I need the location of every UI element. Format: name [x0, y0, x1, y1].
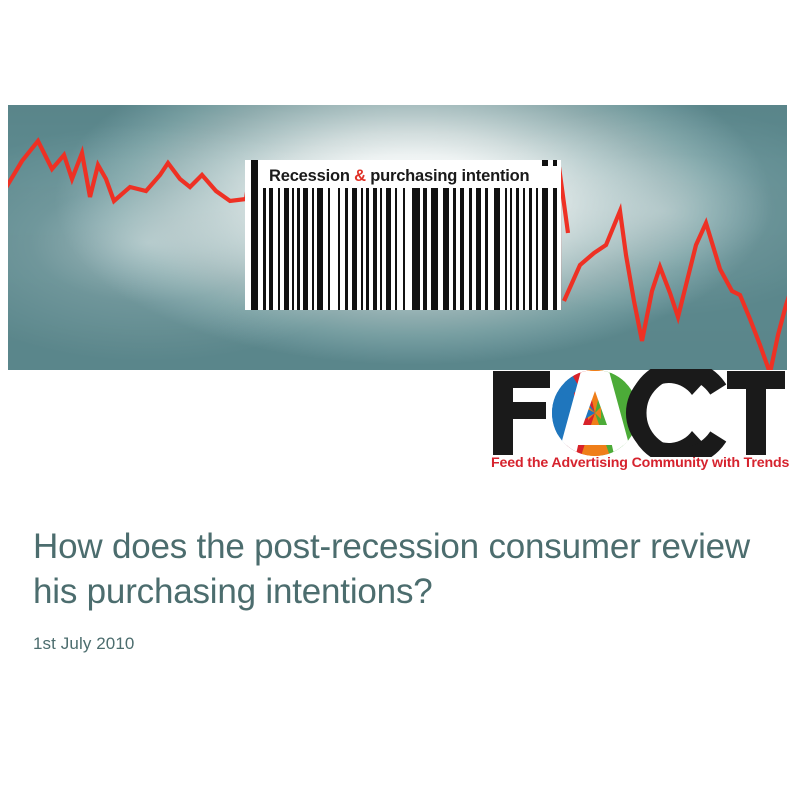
fact-logo: Feed the Advertising Community with Tren… — [489, 369, 787, 481]
fact-logo-letter-f — [493, 371, 550, 455]
trend-line-left — [8, 141, 252, 201]
fact-logo-letter-t — [727, 371, 785, 455]
trend-line-right — [564, 211, 787, 370]
title-block: How does the post-recession consumer rev… — [33, 524, 763, 654]
barcode-title-prefix: Recession — [269, 167, 354, 185]
banner-image: Recession & purchasing intention — [8, 105, 787, 370]
barcode-title-suffix: purchasing intention — [366, 167, 530, 185]
page-title: How does the post-recession consumer rev… — [33, 524, 763, 614]
barcode-title: Recession & purchasing intention — [267, 166, 561, 188]
fact-logo-tagline: Feed the Advertising Community with Tren… — [491, 455, 787, 471]
barcode-title-ampersand: & — [354, 167, 366, 185]
slide-date: 1st July 2010 — [33, 634, 763, 654]
barcode-panel: Recession & purchasing intention — [245, 160, 561, 310]
presentation-title-slide: Recession & purchasing intention — [0, 0, 800, 800]
fact-logo-letter-c — [626, 369, 735, 457]
fact-logo-letters — [489, 369, 787, 457]
fact-logo-letter-a — [552, 370, 638, 457]
